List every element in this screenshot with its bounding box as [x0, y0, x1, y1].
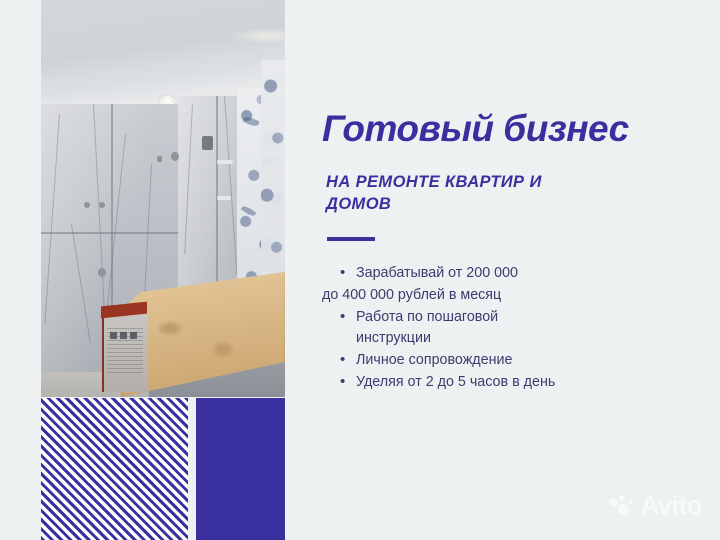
slide-canvas: Готовый бизнес НА РЕМОНТЕ КВАРТИР И ДОМО… — [0, 0, 720, 540]
avito-wordmark: Avito — [640, 492, 702, 518]
accent-divider — [327, 237, 375, 241]
list-item-line1: Зарабатывай от 200 000 — [356, 265, 518, 281]
avito-watermark: Avito — [609, 492, 702, 518]
pipe-outlet-icon — [99, 202, 105, 208]
text-column: Готовый бизнес НА РЕМОНТЕ КВАРТИР И ДОМО… — [322, 108, 690, 393]
list-item-line2: инструкции — [356, 328, 690, 350]
list-item-line1: Работа по пошаговой — [356, 309, 498, 325]
shower-valve-icon — [171, 152, 179, 161]
list-item-line1: Уделяя от 2 до 5 часов в день — [356, 374, 555, 390]
diagonal-stripes-block — [41, 398, 188, 540]
list-item-line2: до 400 000 рублей в месяц — [322, 285, 690, 307]
list-item: Работа по пошаговой инструкции — [340, 307, 690, 350]
avito-logo-icon — [609, 495, 635, 515]
list-item: Уделяя от 2 до 5 часов в день — [340, 372, 690, 394]
pipe-outlet-icon — [98, 268, 106, 277]
list-item: Личное сопровождение — [340, 350, 690, 372]
photo-cardboard-box — [102, 310, 148, 392]
benefits-list: Зарабатывай от 200 000 до 400 000 рублей… — [322, 263, 690, 393]
page-title: Готовый бизнес — [322, 108, 690, 151]
list-item: Зарабатывай от 200 000 до 400 000 рублей… — [340, 263, 690, 306]
page-subtitle: НА РЕМОНТЕ КВАРТИР И ДОМОВ — [326, 171, 576, 216]
wall-fixture-icon — [157, 156, 162, 162]
pipe-outlet-icon — [84, 202, 90, 208]
shelf-icon — [217, 160, 233, 164]
list-item-line1: Личное сопровождение — [356, 352, 512, 368]
solid-blue-block — [196, 398, 285, 540]
bathroom-renovation-photo — [41, 0, 285, 397]
shelf-icon — [217, 196, 231, 200]
wall-niche-icon — [202, 136, 213, 150]
